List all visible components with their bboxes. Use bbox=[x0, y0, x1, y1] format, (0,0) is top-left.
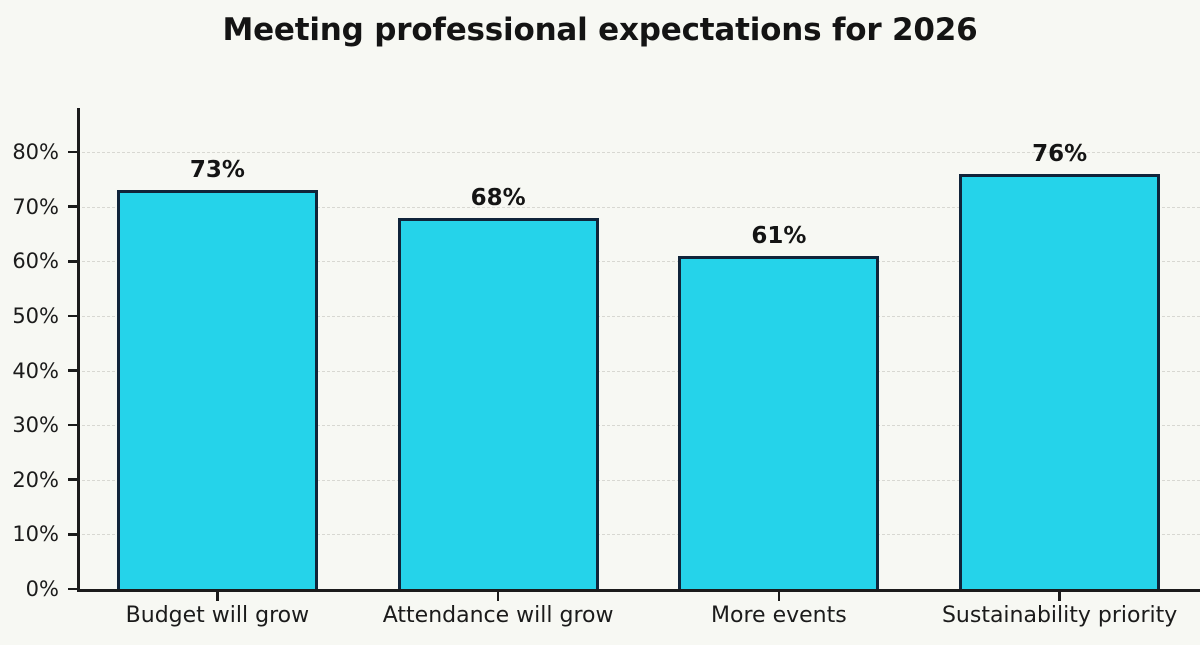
plot-area: 73%68%61%76% 0%10%20%30%40%50%60%70%80% bbox=[77, 108, 1200, 592]
y-axis-spine bbox=[77, 108, 80, 592]
x-axis-spine bbox=[77, 589, 1200, 592]
bar[interactable] bbox=[117, 190, 318, 592]
y-tick-mark bbox=[68, 478, 77, 481]
x-tick-mark bbox=[778, 592, 781, 601]
x-tick-mark bbox=[216, 592, 219, 601]
bar-value-label: 61% bbox=[678, 225, 879, 248]
x-tick-mark bbox=[1058, 592, 1061, 601]
y-tick-label: 0% bbox=[0, 579, 59, 600]
bar[interactable] bbox=[678, 256, 879, 592]
y-tick-mark bbox=[68, 151, 77, 154]
x-category-label: More events bbox=[639, 603, 920, 629]
y-tick-label: 30% bbox=[0, 415, 59, 436]
y-tick-mark bbox=[68, 315, 77, 318]
y-tick-label: 80% bbox=[0, 142, 59, 163]
y-tick-label: 10% bbox=[0, 524, 59, 545]
y-tick-label: 70% bbox=[0, 197, 59, 218]
x-category-label: Sustainability priority bbox=[919, 603, 1200, 629]
y-tick-mark bbox=[68, 369, 77, 372]
y-tick-mark bbox=[68, 424, 77, 427]
y-tick-mark bbox=[68, 533, 77, 536]
chart-title: Meeting professional expectations for 20… bbox=[0, 8, 1200, 52]
y-tick-label: 50% bbox=[0, 306, 59, 327]
x-category-label: Budget will grow bbox=[77, 603, 358, 629]
bar[interactable] bbox=[959, 174, 1160, 592]
y-tick-mark bbox=[68, 260, 77, 263]
bar-value-label: 68% bbox=[398, 187, 599, 210]
bar-value-label: 73% bbox=[117, 159, 318, 182]
x-category-label: Attendance will grow bbox=[358, 603, 639, 629]
x-tick-mark bbox=[497, 592, 500, 601]
y-tick-mark bbox=[68, 588, 77, 591]
bar[interactable] bbox=[398, 218, 599, 592]
y-tick-label: 20% bbox=[0, 470, 59, 491]
y-tick-label: 40% bbox=[0, 361, 59, 382]
bar-chart: Meeting professional expectations for 20… bbox=[0, 0, 1200, 645]
bar-value-label: 76% bbox=[959, 143, 1160, 166]
y-tick-mark bbox=[68, 205, 77, 208]
y-tick-label: 60% bbox=[0, 251, 59, 272]
